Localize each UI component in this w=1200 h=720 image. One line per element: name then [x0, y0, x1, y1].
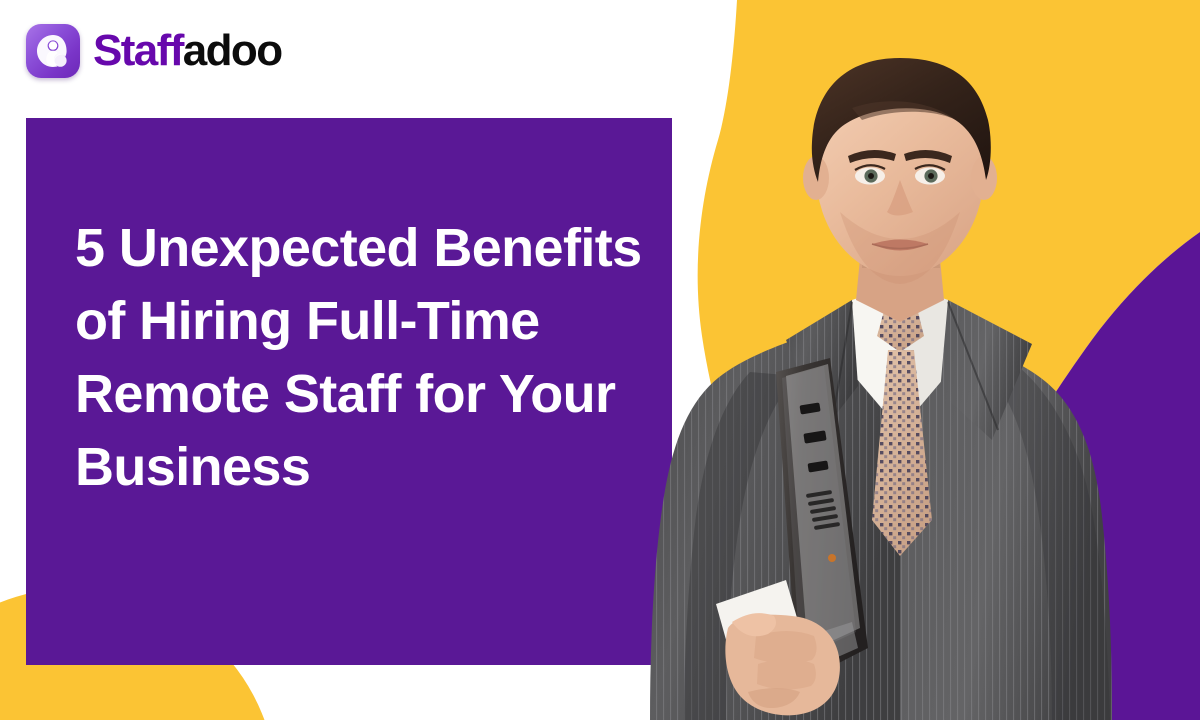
page-title: 5 Unexpected Benefits of Hiring Full-Tim… — [75, 212, 655, 504]
headline-panel: 5 Unexpected Benefits of Hiring Full-Tim… — [26, 118, 672, 665]
staffadoo-pin-person-icon — [26, 24, 80, 78]
hero-banner: 5 Unexpected Benefits of Hiring Full-Tim… — [0, 0, 1200, 720]
brand-wordmark: Staffadoo — [93, 29, 281, 73]
brand-logo[interactable]: Staffadoo — [26, 24, 281, 78]
brand-name-part1: Staff — [93, 29, 183, 73]
brand-name-part2: adoo — [183, 29, 282, 73]
